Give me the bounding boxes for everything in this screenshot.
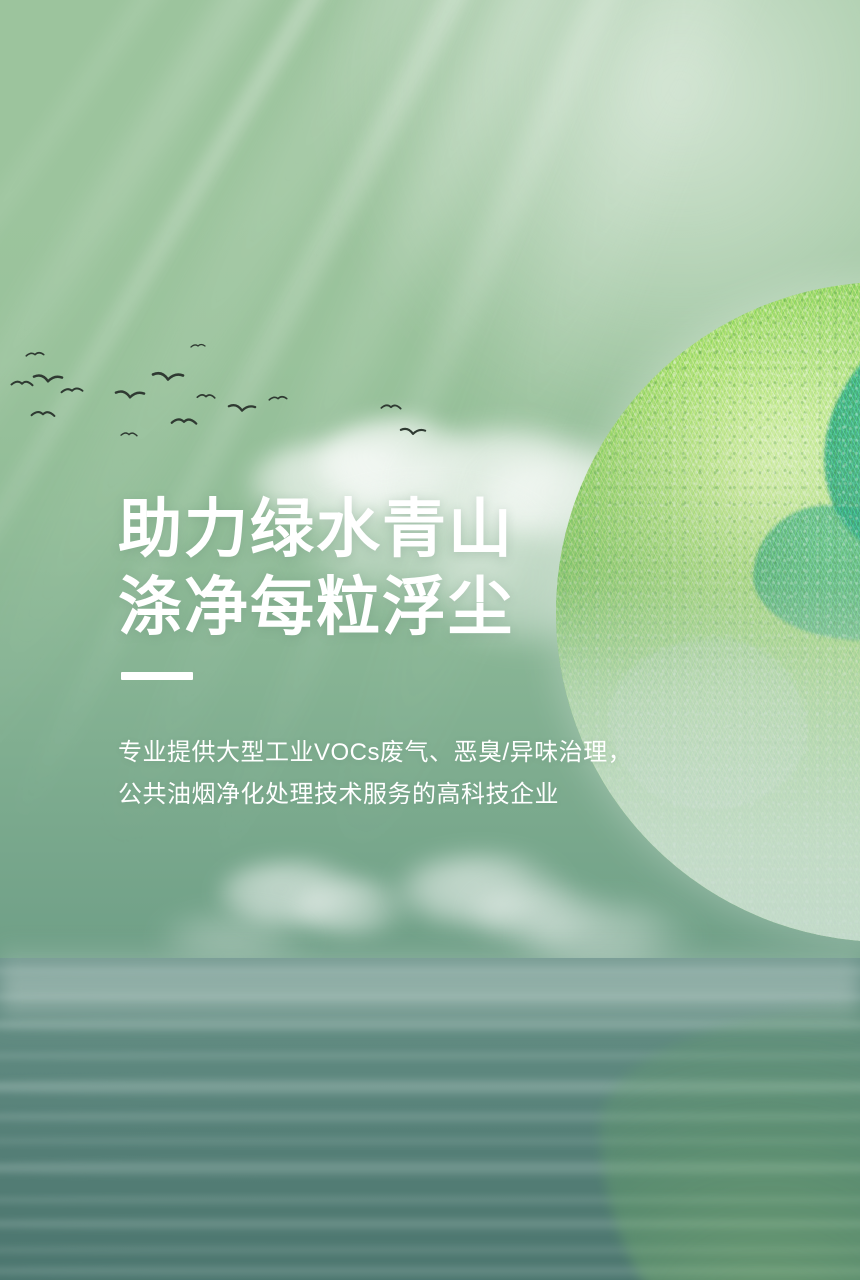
bird-icon: [152, 370, 184, 383]
bird-icon: [190, 342, 206, 349]
bird-icon: [10, 378, 34, 388]
subtitle-line-1: 专业提供大型工业VOCs废气、恶臭/异味治理，: [118, 732, 758, 774]
bird-icon: [228, 402, 256, 414]
bird-icon: [400, 426, 426, 437]
birds-flock-icon: [0, 330, 460, 460]
bird-icon: [33, 372, 63, 385]
headline-line-2: 涤净每粒浮尘: [118, 568, 758, 646]
divider: [121, 672, 193, 680]
bird-icon: [115, 388, 145, 401]
bird-icon: [25, 350, 45, 358]
bird-icon: [380, 402, 402, 411]
headline-line-1: 助力绿水青山: [118, 490, 758, 568]
hero-banner: 助力绿水青山 涤净每粒浮尘 专业提供大型工业VOCs废气、恶臭/异味治理， 公共…: [0, 0, 860, 1280]
wave-line: [0, 964, 860, 978]
hero-text-block: 助力绿水青山 涤净每粒浮尘 专业提供大型工业VOCs废气、恶臭/异味治理， 公共…: [118, 490, 758, 816]
bird-icon: [30, 408, 56, 419]
bird-icon: [196, 392, 216, 400]
bird-icon: [120, 430, 138, 438]
bird-icon: [60, 385, 84, 395]
bird-icon: [170, 415, 198, 427]
subtitle-line-2: 公共油烟净化处理技术服务的高科技企业: [118, 774, 758, 816]
bird-icon: [268, 394, 288, 402]
wave-line: [0, 992, 860, 1002]
